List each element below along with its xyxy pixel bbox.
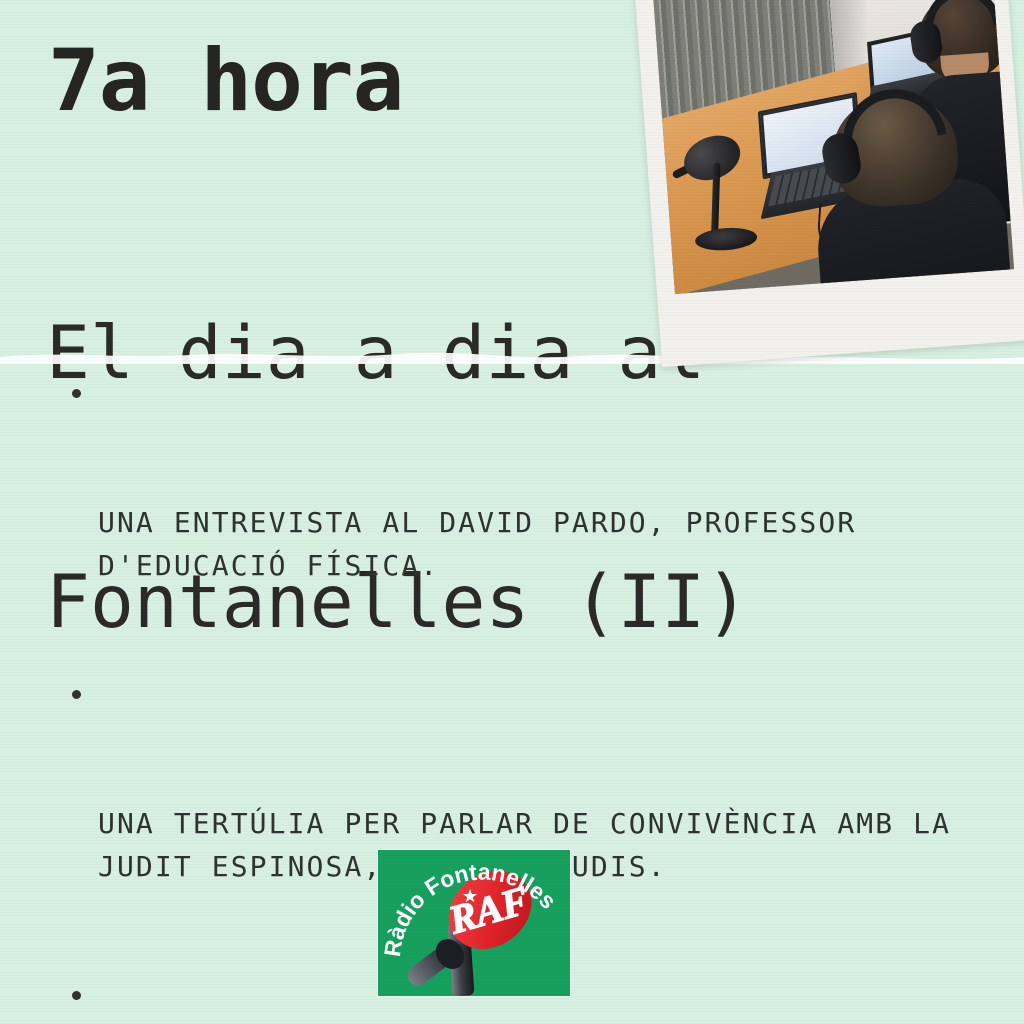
list-item: UNA ENTREVISTA AL DAVID PARDO, PROFESSOR… — [70, 372, 970, 673]
poster-canvas: 7a hora El dia a dia al Fontanelles (II) — [0, 0, 1024, 1024]
polaroid-frame — [635, 0, 1024, 367]
radio-fontanelles-logo: RAF Ràdio Fontanelles — [378, 850, 570, 996]
photo-scene — [653, 0, 1014, 294]
list-item-text: UNA ENTREVISTA AL DAVID PARDO, PROFESSOR… — [98, 501, 970, 587]
bullet-dot-icon — [72, 991, 81, 1000]
bullet-dot-icon — [72, 389, 81, 398]
bullet-dot-icon — [72, 690, 81, 699]
page-title: 7a hora — [48, 38, 403, 124]
studio-photo — [653, 0, 1014, 294]
logo-artwork: RAF Ràdio Fontanelles — [378, 850, 570, 996]
